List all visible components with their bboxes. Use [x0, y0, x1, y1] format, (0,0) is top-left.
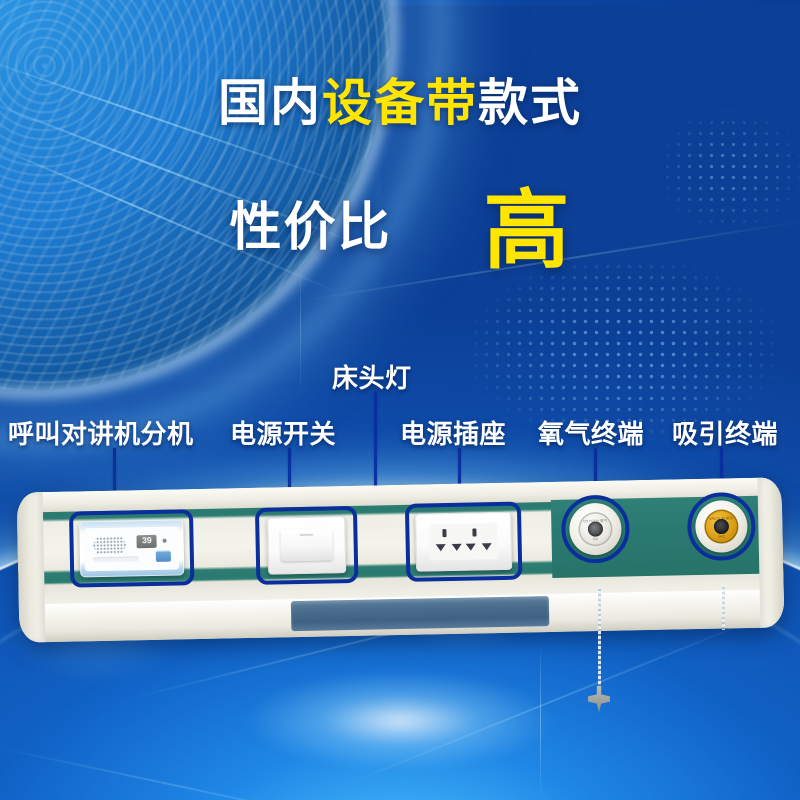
- bed-head-unit-body: 39: [17, 477, 785, 642]
- power-switch[interactable]: [267, 516, 346, 575]
- oxygen-terminal-port[interactable]: [588, 521, 603, 536]
- socket-pin-a2: [472, 528, 476, 536]
- intercom-display: 39: [136, 535, 156, 548]
- power-socket[interactable]: [415, 512, 512, 572]
- socket-pin-a1: [442, 529, 446, 537]
- oxygen-terminal-ring: OXYGEN 氧气 O2: [578, 512, 613, 547]
- product-banner: 国内设备带款式 性价比高 呼叫对讲机分机 电源开关 床头灯 电源插座 氧气终端 …: [0, 0, 800, 800]
- socket-slot-b3: [466, 543, 476, 550]
- bed-head-unit: 39: [17, 477, 785, 642]
- unit-end-cap-right: [757, 477, 784, 627]
- callout-layer: 呼叫对讲机分机 电源开关 床头灯 电源插座 氧气终端 吸引终端: [0, 0, 800, 800]
- callout-label-switch: 电源开关: [230, 414, 336, 451]
- socket-slot-b1: [436, 544, 446, 551]
- socket-slot-b4: [482, 543, 492, 550]
- suction-terminal-bottom-text: VAC: [718, 534, 725, 538]
- callout-label-intercom: 呼叫对讲机分机: [8, 414, 194, 451]
- speaker-grille-icon: [92, 536, 126, 554]
- oxygen-terminal-bottom-text: O2: [593, 537, 598, 541]
- status-led-icon: [163, 539, 167, 543]
- socket-slot-b2: [452, 544, 462, 551]
- callout-label-oxygen: 氧气终端: [538, 414, 644, 451]
- intercom-mic-slot: [93, 556, 139, 562]
- rocker-paddle[interactable]: [280, 528, 333, 561]
- oxygen-pull-cord[interactable]: [598, 586, 601, 702]
- socket-faceplate: [429, 523, 498, 560]
- suction-terminal-ring: VACUUM 吸引 VAC: [704, 509, 739, 544]
- equipment-rail: [291, 596, 550, 631]
- nurse-call-intercom[interactable]: 39: [79, 519, 184, 577]
- rocker-mark-icon: [299, 534, 313, 536]
- suction-pull-cord[interactable]: [722, 584, 725, 630]
- callout-label-socket: 电源插座: [400, 414, 506, 451]
- intercom-call-button[interactable]: [156, 551, 171, 562]
- suction-terminal-port[interactable]: [714, 519, 729, 534]
- callout-label-bedlamp: 床头灯: [332, 358, 412, 395]
- unit-end-cap-left: [17, 492, 46, 642]
- intercom-faceplate: 39: [84, 526, 179, 571]
- callout-label-suction: 吸引终端: [672, 414, 778, 451]
